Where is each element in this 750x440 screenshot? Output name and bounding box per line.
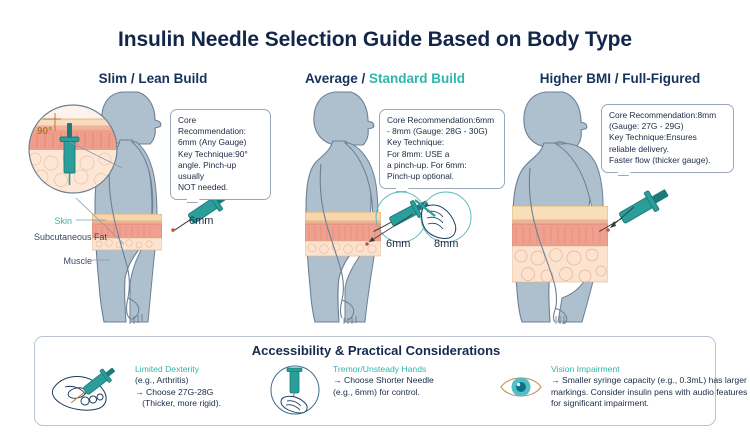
- accessibility-line-8: significant impairment.: [563, 398, 649, 408]
- needle-size-label-slim-6mm: 6mm: [189, 215, 213, 227]
- callout-average-line-2: Key Technique:: [387, 137, 497, 148]
- accessibility-heading-tremor: Tremor/Unsteady Hands: [333, 364, 483, 375]
- accessibility-panel: Accessibility & Practical Considerations: [34, 336, 716, 426]
- callout-higher-bmi-line-3: reliable delivery.: [609, 144, 726, 155]
- column-heading-slim-text: Slim / Lean Build: [99, 71, 208, 86]
- page-title: Insulin Needle Selection Guide Based on …: [0, 28, 750, 52]
- anatomy-leader-lines: [70, 214, 130, 274]
- callout-slim-line-1: 6mm (Any Gauge): [178, 137, 263, 148]
- callout-slim: Core Recommendation: 6mm (Any Gauge) Key…: [170, 109, 271, 200]
- callout-higher-bmi-line-1: (Gauge: 27G - 29G): [609, 121, 726, 132]
- accessibility-line-3: → Choose Shorter Needle: [333, 375, 434, 385]
- callout-higher-bmi: Core Recommendation:8mm (Gauge: 27G - 29…: [601, 104, 734, 173]
- callout-slim-tail: [187, 198, 203, 208]
- accessibility-line-2: (Thicker, more rigid).: [135, 398, 221, 408]
- callout-higher-bmi-line-4: Faster flow (thicker gauge).: [609, 155, 726, 166]
- callout-average-line-1: - 8mm (Gauge: 28G - 30G): [387, 126, 497, 137]
- callout-average-line-0: Core Recommendation:6mm: [387, 115, 497, 126]
- accessibility-heading-vision: Vision Impairment: [551, 364, 750, 375]
- accessibility-line-1: → Choose 27G-28G: [135, 387, 213, 397]
- callout-higher-bmi-line-0: Core Recommendation:8mm: [609, 110, 726, 121]
- column-heading-average: Average / Standard Build: [270, 71, 500, 86]
- accessibility-item-limited-dexterity-text: Limited Dexterity (e.g., Arthritis) → Ch…: [135, 364, 261, 410]
- accessibility-heading-limited-dexterity: Limited Dexterity: [135, 364, 261, 375]
- callout-slim-line-3: angle. Pinch-up usually: [178, 160, 263, 182]
- needle-size-label-average-8mm: 8mm: [434, 238, 458, 250]
- column-heading-slim: Slim / Lean Build: [38, 71, 268, 86]
- infographic-root: Insulin Needle Selection Guide Based on …: [0, 0, 750, 440]
- column-heading-higher-bmi: Higher BMI / Full-Figured: [500, 71, 740, 86]
- accessibility-line-0: (e.g., Arthritis): [135, 375, 188, 385]
- accessibility-line-5: → Smaller syringe capacity (e.g.,: [551, 375, 677, 385]
- needle-size-label-average-6mm: 6mm: [386, 238, 410, 250]
- column-heading-average-text: Average /: [305, 71, 369, 86]
- accessibility-item-vision-text: Vision Impairment → Smaller syringe capa…: [551, 364, 750, 410]
- label-skin: Skin: [10, 216, 72, 226]
- accessibility-line-4: (e.g., 6mm) for control.: [333, 387, 420, 397]
- syringe-8mm-higher-bmi-icon: [590, 180, 676, 244]
- callout-average-line-4: a pinch-up. For 6mm:: [387, 160, 497, 171]
- accessibility-panel-title: Accessibility & Practical Considerations: [35, 343, 717, 358]
- callout-higher-bmi-line-2: Key Technique:Ensures: [609, 132, 726, 143]
- callout-average-tail: [396, 187, 412, 197]
- callout-average-line-5: Pinch-up optional.: [387, 171, 497, 182]
- callout-slim-line-4: NOT needed.: [178, 182, 263, 193]
- column-heading-higher-bmi-text: Higher BMI / Full-Figured: [540, 71, 701, 86]
- callout-average: Core Recommendation:6mm - 8mm (Gauge: 28…: [379, 109, 505, 189]
- column-heading-average-accent: Standard Build: [369, 71, 465, 86]
- callout-slim-line-2: Key Technique:90°: [178, 149, 263, 160]
- callout-slim-line-0: Core Recommendation:: [178, 115, 263, 137]
- trembling-hand-syringe-icon: [267, 363, 325, 419]
- hand-holding-syringe-icon: [49, 363, 129, 415]
- accessibility-item-tremor-text: Tremor/Unsteady Hands → Choose Shorter N…: [333, 364, 483, 398]
- eye-icon: [497, 363, 545, 411]
- injection-angle-label: 90°: [37, 126, 52, 137]
- callout-average-line-3: For 8mm: USE a: [387, 149, 497, 160]
- callout-higher-bmi-tail: [618, 171, 634, 181]
